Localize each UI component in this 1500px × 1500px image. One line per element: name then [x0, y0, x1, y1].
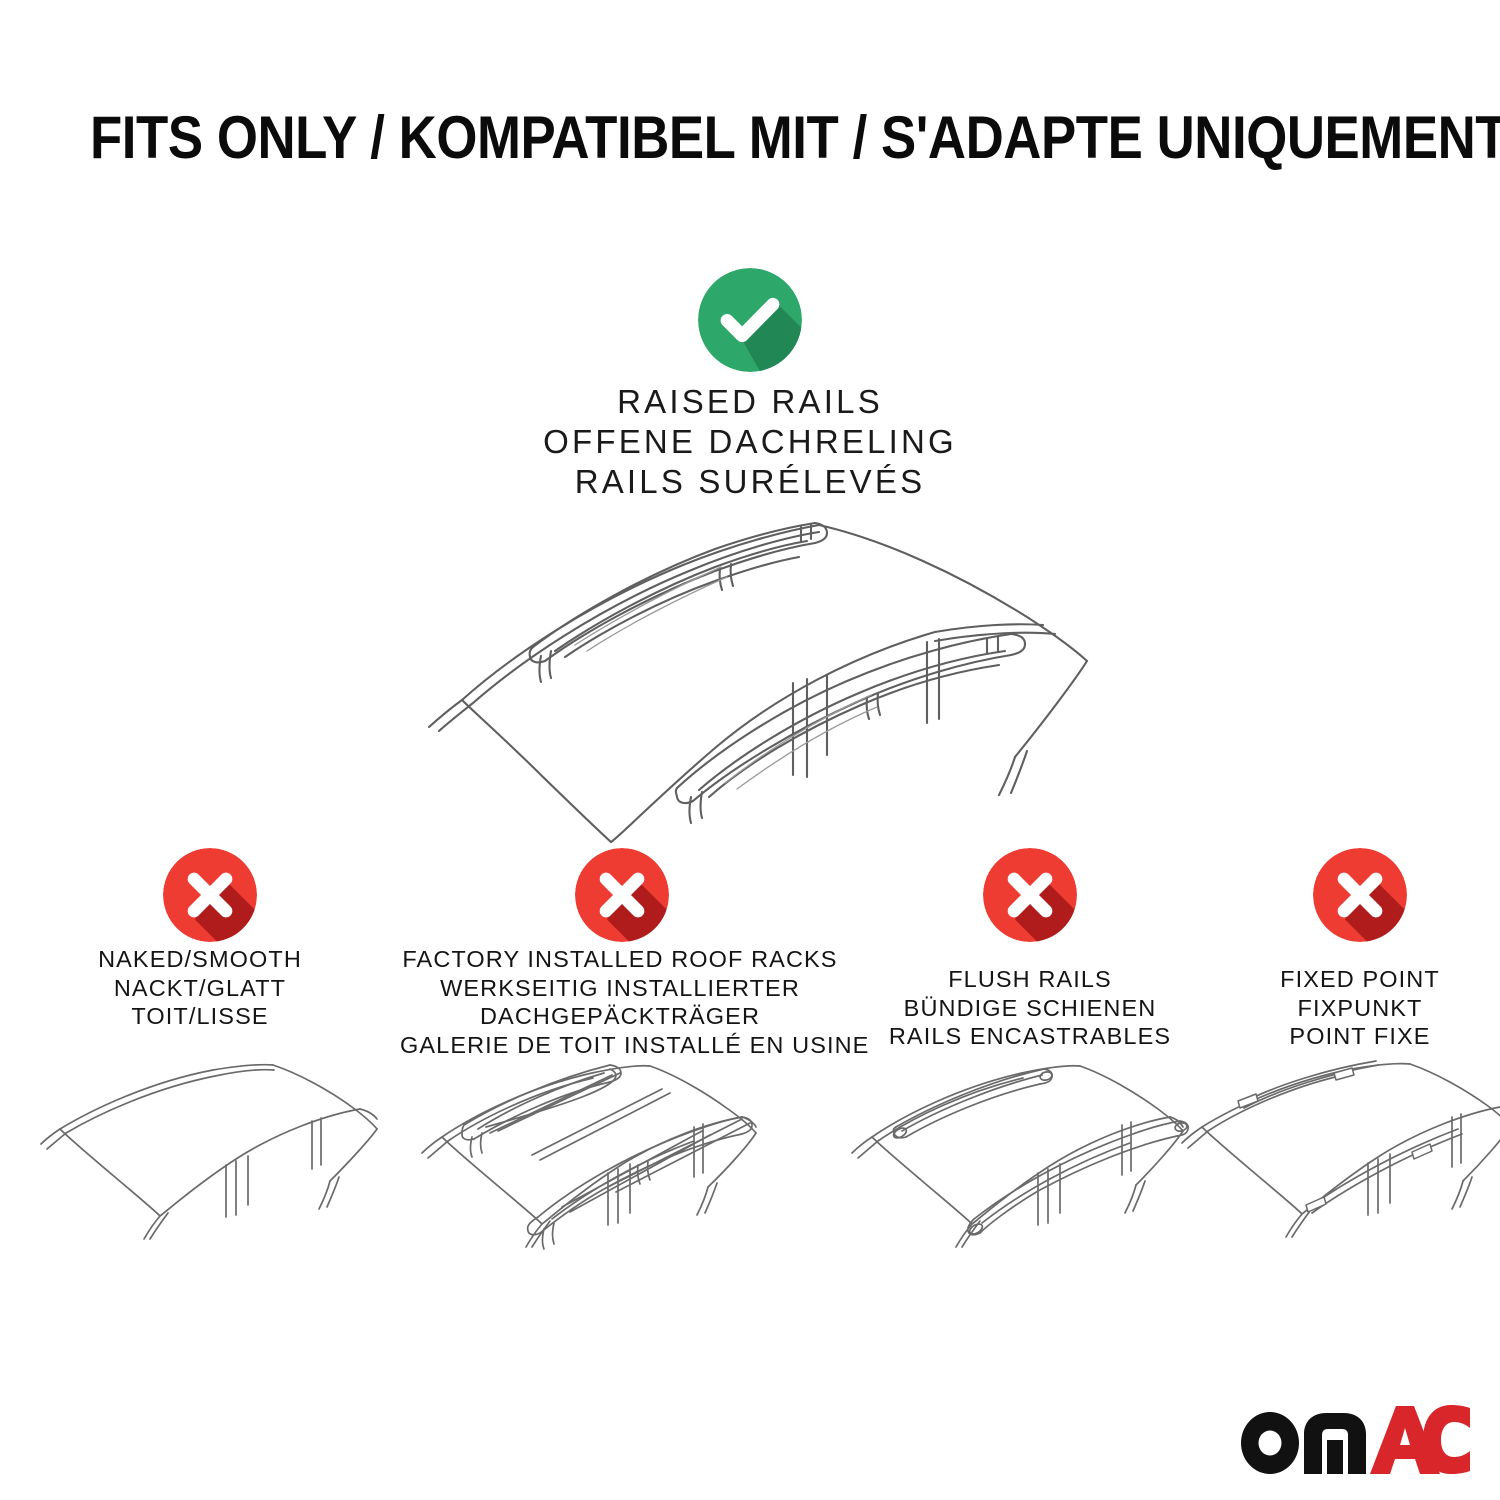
fitment-infographic: FITS ONLY / KOMPATIBEL MIT / S'ADAPTE UN…	[0, 0, 1500, 1500]
reject-label-line-1: FACTORY INSTALLED ROOF RACKS	[400, 945, 840, 974]
reject-label-line-3: DACHGEPÄCKTRÄGER	[400, 1002, 840, 1031]
x-circle-icon	[575, 848, 669, 942]
page-title: FITS ONLY / KOMPATIBEL MIT / S'ADAPTE UN…	[90, 103, 1410, 172]
car-roof-factory-racks-illustration	[412, 1057, 772, 1287]
x-circle-icon	[983, 848, 1077, 942]
logo-letter-C	[1423, 1405, 1470, 1474]
car-roof-raised-rails-illustration	[415, 505, 1115, 845]
logo-letter-m	[1304, 1413, 1366, 1474]
reject-label-line-1: FLUSH RAILS	[840, 965, 1220, 994]
reject-label-line-2: NACKT/GLATT	[0, 974, 400, 1003]
reject-label-line-3: TOIT/LISSE	[0, 1002, 400, 1031]
x-circle-icon	[163, 848, 257, 942]
reject-label-line-2: WERKSEITIG INSTALLIERTER	[400, 974, 840, 1003]
reject-label-flush-rails: FLUSH RAILS BÜNDIGE SCHIENEN RAILS ENCAS…	[840, 965, 1220, 1051]
check-circle-glyph	[698, 268, 802, 372]
reject-label-line-3: POINT FIXE	[1220, 1022, 1500, 1051]
car-roof-fixed-point-illustration	[1180, 1057, 1500, 1287]
reject-label-line-1: FIXED POINT	[1220, 965, 1500, 994]
reject-label-naked-smooth: NAKED/SMOOTH NACKT/GLATT TOIT/LISSE	[0, 945, 400, 1031]
reject-label-line-2: FIXPUNKT	[1220, 994, 1500, 1023]
reject-label-line-3: RAILS ENCASTRABLES	[840, 1022, 1220, 1051]
accepted-label-line-3: RAILS SURÉLEVÉS	[0, 462, 1500, 502]
logo-letter-o	[1241, 1412, 1299, 1474]
accepted-label: RAISED RAILS OFFENE DACHRELING RAILS SUR…	[0, 382, 1500, 502]
omac-logo	[1238, 1404, 1470, 1474]
car-roof-flush-rails-illustration	[830, 1057, 1190, 1287]
reject-label-line-2: BÜNDIGE SCHIENEN	[840, 994, 1220, 1023]
reject-label-line-4: GALERIE DE TOIT INSTALLÉ EN USINE	[400, 1031, 840, 1060]
accepted-label-line-1: RAISED RAILS	[0, 382, 1500, 422]
check-circle-icon	[698, 268, 802, 372]
car-roof-naked-smooth-illustration	[38, 1057, 383, 1287]
reject-label-line-1: NAKED/SMOOTH	[0, 945, 400, 974]
reject-label-fixed-point: FIXED POINT FIXPUNKT POINT FIXE	[1220, 965, 1500, 1051]
accepted-label-line-2: OFFENE DACHRELING	[0, 422, 1500, 462]
reject-label-factory-roof-racks: FACTORY INSTALLED ROOF RACKS WERKSEITIG …	[400, 945, 840, 1059]
x-circle-icon	[1313, 848, 1407, 942]
